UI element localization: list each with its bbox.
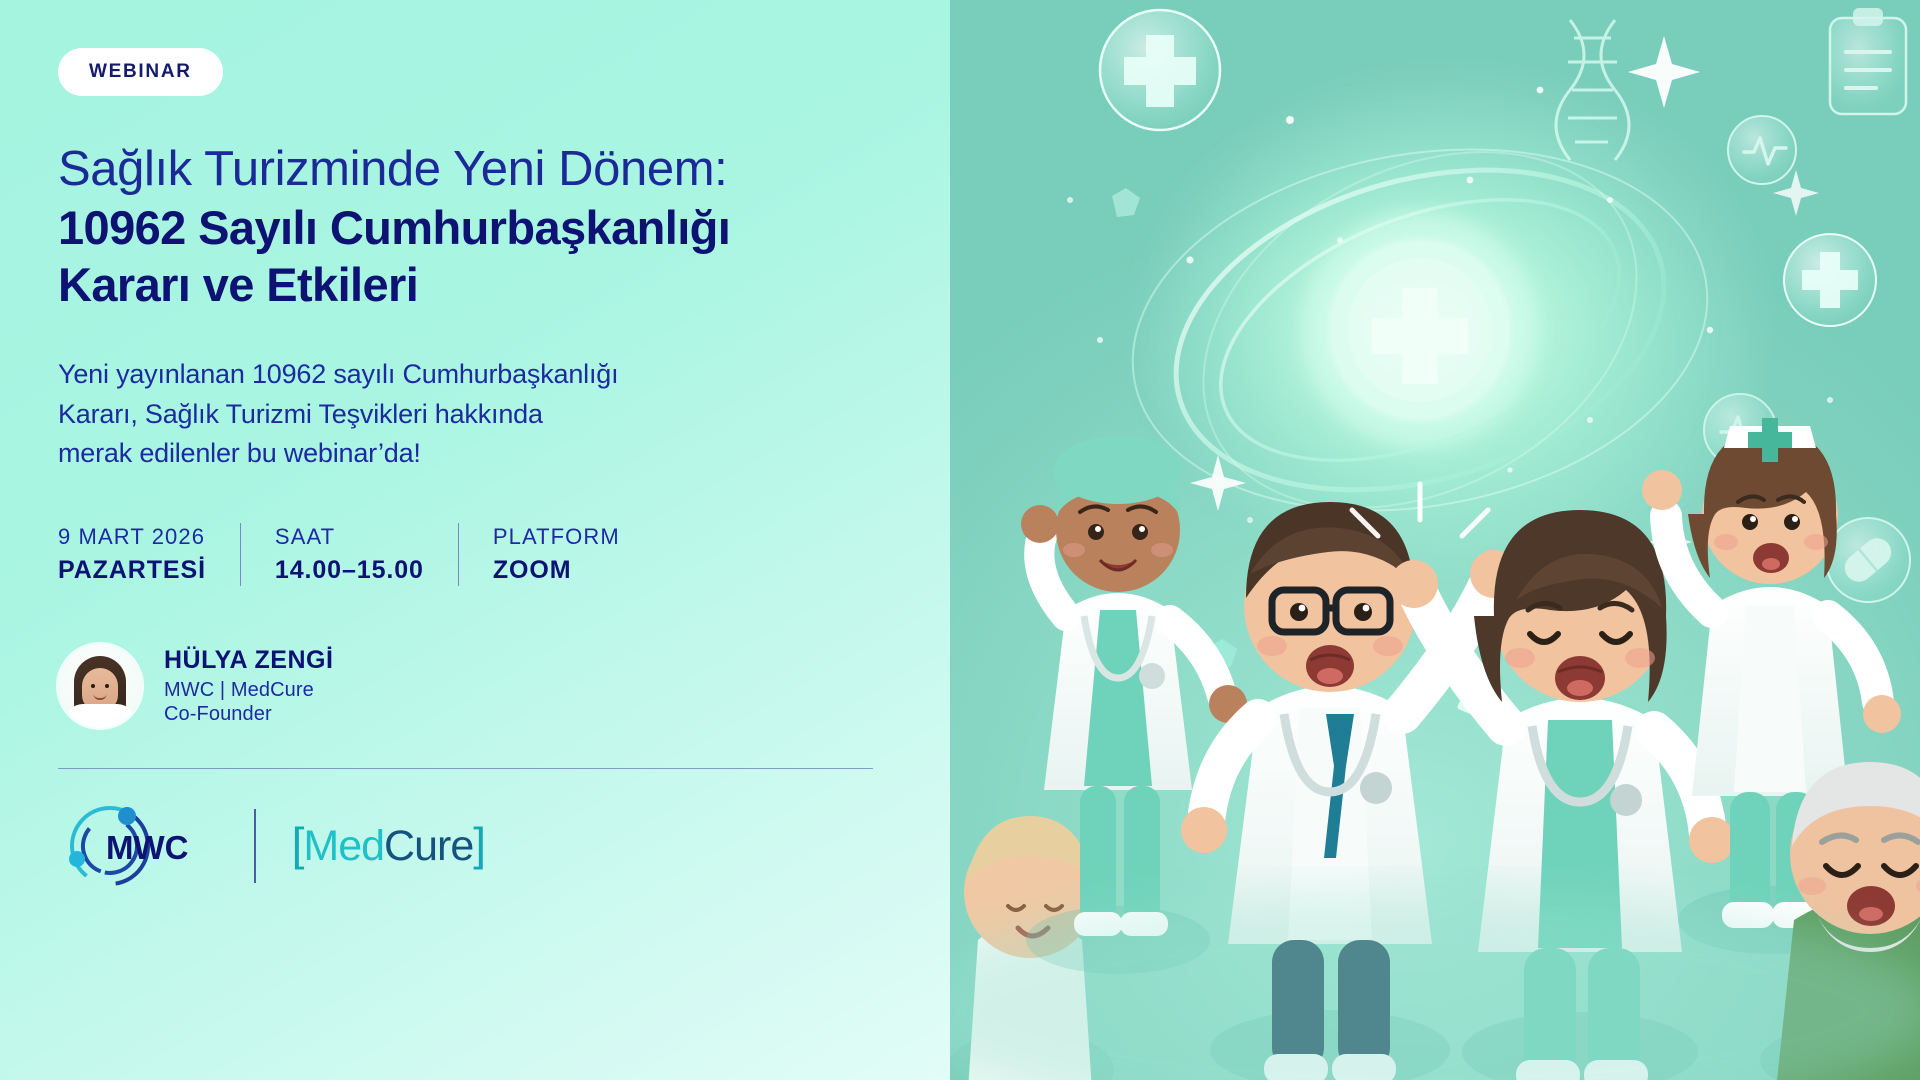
speaker-name: HÜLYA ZENGİ — [164, 645, 333, 675]
avatar-eye-left — [91, 684, 95, 688]
meta-platform-value: ZOOM — [493, 554, 620, 586]
meta-date-value: PAZARTESİ — [58, 554, 206, 586]
description: Yeni yayınlanan 10962 sayılı Cumhurbaşka… — [58, 355, 950, 473]
mwc-logo-text: MWC — [106, 829, 188, 866]
description-line-3: merak edilenler bu webinar’da! — [58, 434, 950, 473]
medcure-bracket-close: ] — [473, 821, 485, 867]
medcure-med-text: Med — [303, 822, 384, 871]
illustration-graphic — [950, 0, 1920, 1080]
description-line-2: Kararı, Sağlık Turizmi Teşvikleri hakkın… — [58, 395, 950, 434]
meta-time: SAAT 14.00–15.00 — [240, 523, 458, 585]
meta-time-label: SAAT — [275, 523, 424, 551]
medical-cross-icon — [1100, 10, 1220, 130]
pill-icon — [1826, 518, 1910, 602]
meta-platform-label: PLATFORM — [493, 523, 620, 551]
speaker-role: Co-Founder — [164, 702, 333, 726]
title-line-3: Kararı ve Etkileri — [58, 257, 950, 313]
dna-helix-icon — [1556, 20, 1629, 160]
mwc-logo: MWC — [58, 803, 218, 889]
heartbeat-icon — [1728, 116, 1796, 184]
footer-logos: MWC [ Med Cure ] — [58, 803, 950, 889]
speaker-org: MWC | MedCure — [164, 678, 333, 702]
speaker-block: HÜLYA ZENGİ MWC | MedCure Co-Founder — [58, 644, 950, 728]
meta-date-label: 9 MART 2026 — [58, 523, 206, 551]
clipboard-icon — [1830, 8, 1906, 114]
webinar-poster: WEBINAR Sağlık Turizminde Yeni Dönem: 10… — [0, 0, 1920, 1080]
meta-platform: PLATFORM ZOOM — [458, 523, 654, 585]
medcure-bracket-open: [ — [292, 821, 304, 867]
medical-cross-icon — [1784, 234, 1876, 326]
avatar-body — [65, 704, 135, 728]
medcure-logo: [ Med Cure ] — [292, 821, 485, 871]
title-line-2: 10962 Sayılı Cumhurbaşkanlığı — [58, 200, 950, 256]
avatar — [58, 644, 142, 728]
event-meta: 9 MART 2026 PAZARTESİ SAAT 14.00–15.00 P… — [58, 523, 950, 585]
medical-cross-icon — [1348, 258, 1492, 402]
meta-date: 9 MART 2026 PAZARTESİ — [58, 523, 240, 585]
avatar-eye-right — [105, 684, 109, 688]
left-content-panel: WEBINAR Sağlık Turizminde Yeni Dönem: 10… — [0, 0, 950, 1080]
illustration-panel — [950, 0, 1920, 1080]
webinar-badge: WEBINAR — [58, 48, 223, 96]
meta-time-value: 14.00–15.00 — [275, 554, 424, 586]
page-title: Sağlık Turizminde Yeni Dönem: 10962 Sayı… — [58, 142, 950, 313]
title-line-1: Sağlık Turizminde Yeni Dönem: — [58, 142, 950, 197]
medcure-cure-text: Cure — [384, 822, 473, 871]
description-line-1: Yeni yayınlanan 10962 sayılı Cumhurbaşka… — [58, 355, 950, 394]
logo-separator — [254, 809, 256, 883]
speaker-text: HÜLYA ZENGİ MWC | MedCure Co-Founder — [164, 645, 333, 726]
footer-divider — [58, 768, 873, 770]
mwc-logo-icon: MWC — [58, 803, 218, 889]
